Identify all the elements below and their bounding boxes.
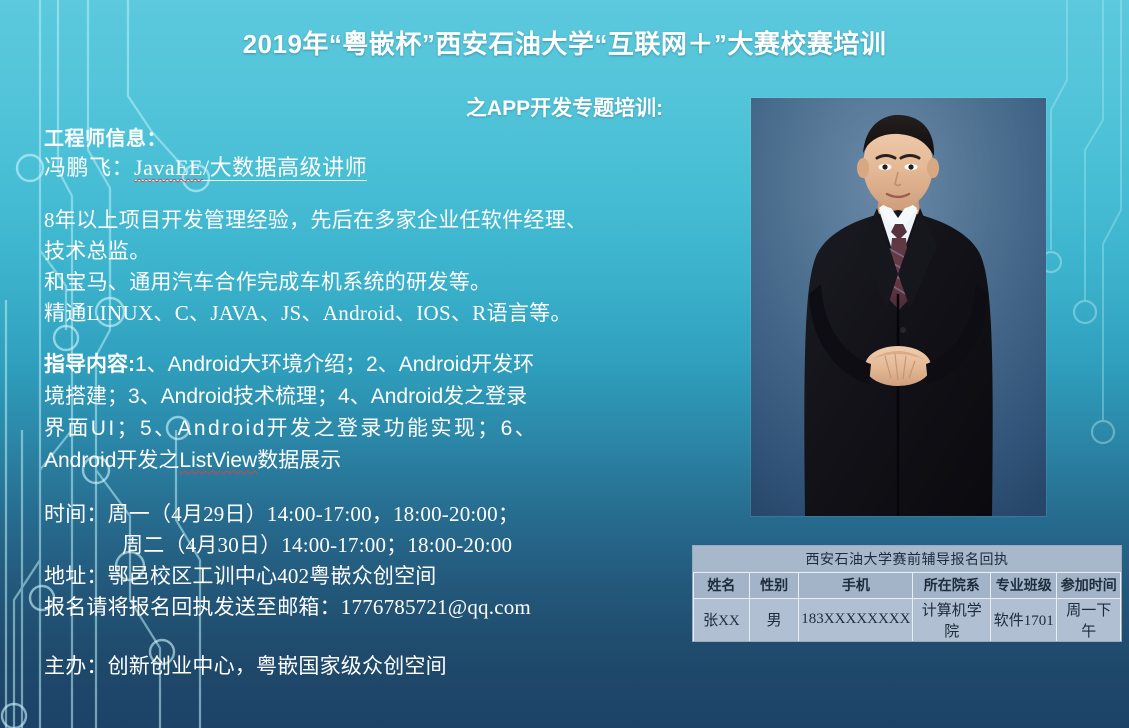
bio-line-2: 技术总监。	[44, 236, 744, 267]
engineer-name: 冯鹏飞：	[44, 155, 134, 180]
schedule-time-line-2: 周二（4月30日）14:00-17:00；18:00-20:00	[44, 530, 744, 561]
table-header-department: 所在院系	[913, 572, 991, 598]
table-header-class: 专业班级	[991, 572, 1057, 598]
engineer-biography: 8年以上项目开发管理经验，先后在多家企业任软件经理、 技术总监。 和宝马、通用汽…	[44, 205, 744, 329]
engineer-name-role: 冯鹏飞：JavaEE/大数据高级讲师	[44, 153, 744, 183]
cell-department: 计算机学院	[913, 598, 991, 641]
schedule-signup-email: 报名请将报名回执发送至邮箱：1776785721@qq.com	[44, 592, 744, 623]
instructor-portrait-photo	[751, 98, 1046, 516]
schedule-address: 地址：鄂邑校区工训中心402粤嵌众创空间	[44, 561, 744, 592]
schedule-time-value-1: 周一（4月29日）14:00-17:00，18:00-20:00；	[108, 502, 519, 526]
table-filler-row	[694, 641, 1121, 642]
guidance-line-3: 界面UI；5、Android开发之登录功能实现；6、	[44, 413, 744, 445]
presentation-slide: 2019年“粤嵌杯”西安石油大学“互联网＋”大赛校赛培训 之APP开发专题培训:…	[0, 0, 1129, 728]
guidance-line-1: 指导内容:1、Android大环境介绍；2、Android开发环	[44, 349, 744, 381]
schedule-block: 时间：周一（4月29日）14:00-17:00，18:00-20:00； 周二（…	[44, 499, 744, 623]
engineer-role-rest: /大数据高级讲师	[203, 155, 367, 181]
bio-line-3: 和宝马、通用汽车合作完成车机系统的研发等。	[44, 267, 744, 298]
engineer-role-highlight: JavaEE	[134, 155, 203, 181]
guidance-line-4: Android开发之ListView数据展示	[44, 445, 744, 477]
bio-line-4: 精通LINUX、C、JAVA、JS、Android、IOS、R语言等。	[44, 298, 744, 329]
slide-body-content: 工程师信息： 冯鹏飞：JavaEE/大数据高级讲师 8年以上项目开发管理经验，先…	[44, 126, 744, 681]
cell-phone: 183XXXXXXXX	[799, 598, 913, 641]
table-caption-row: 西安石油大学赛前辅导报名回执	[694, 546, 1121, 572]
registration-receipt-table: 西安石油大学赛前辅导报名回执 姓名 性别 手机 所在院系 专业班级 参加时间 张…	[693, 546, 1121, 642]
cell-session: 周一下午	[1057, 598, 1121, 641]
schedule-time-label: 时间：	[44, 502, 108, 526]
table-header-session: 参加时间	[1057, 572, 1121, 598]
cell-class: 软件1701	[991, 598, 1057, 641]
table-filler-cell	[694, 641, 1121, 642]
cell-gender: 男	[749, 598, 798, 641]
table-row: 张XX 男 183XXXXXXXX 计算机学院 软件1701 周一下午	[694, 598, 1121, 641]
guidance-line-2: 境搭建；3、Android技术梳理；4、Android发之登录	[44, 381, 744, 413]
guidance-text-1: 1、Android大环境介绍；2、Android开发环	[135, 353, 534, 376]
registration-receipt-table-container: 西安石油大学赛前辅导报名回执 姓名 性别 手机 所在院系 专业班级 参加时间 张…	[692, 545, 1122, 642]
table-header-phone: 手机	[799, 572, 913, 598]
table-header-row: 姓名 性别 手机 所在院系 专业班级 参加时间	[694, 572, 1121, 598]
slide-title: 2019年“粤嵌杯”西安石油大学“互联网＋”大赛校赛培训	[0, 24, 1129, 61]
cell-name: 张XX	[694, 598, 750, 641]
schedule-time-line-1: 时间：周一（4月29日）14:00-17:00，18:00-20:00；	[44, 499, 744, 530]
guidance-label: 指导内容:	[44, 353, 135, 376]
bio-line-1: 8年以上项目开发管理经验，先后在多家企业任软件经理、	[44, 205, 744, 236]
host-organizations: 主办：创新创业中心，粤嵌国家级众创空间	[44, 651, 744, 681]
guidance-content-block: 指导内容:1、Android大环境介绍；2、Android开发环 境搭建；3、A…	[44, 349, 744, 477]
guidance-listview-term: ListView	[179, 449, 257, 472]
engineer-info-heading: 工程师信息：	[44, 126, 744, 152]
table-caption: 西安石油大学赛前辅导报名回执	[694, 546, 1121, 572]
table-header-name: 姓名	[694, 572, 750, 598]
table-header-gender: 性别	[749, 572, 798, 598]
